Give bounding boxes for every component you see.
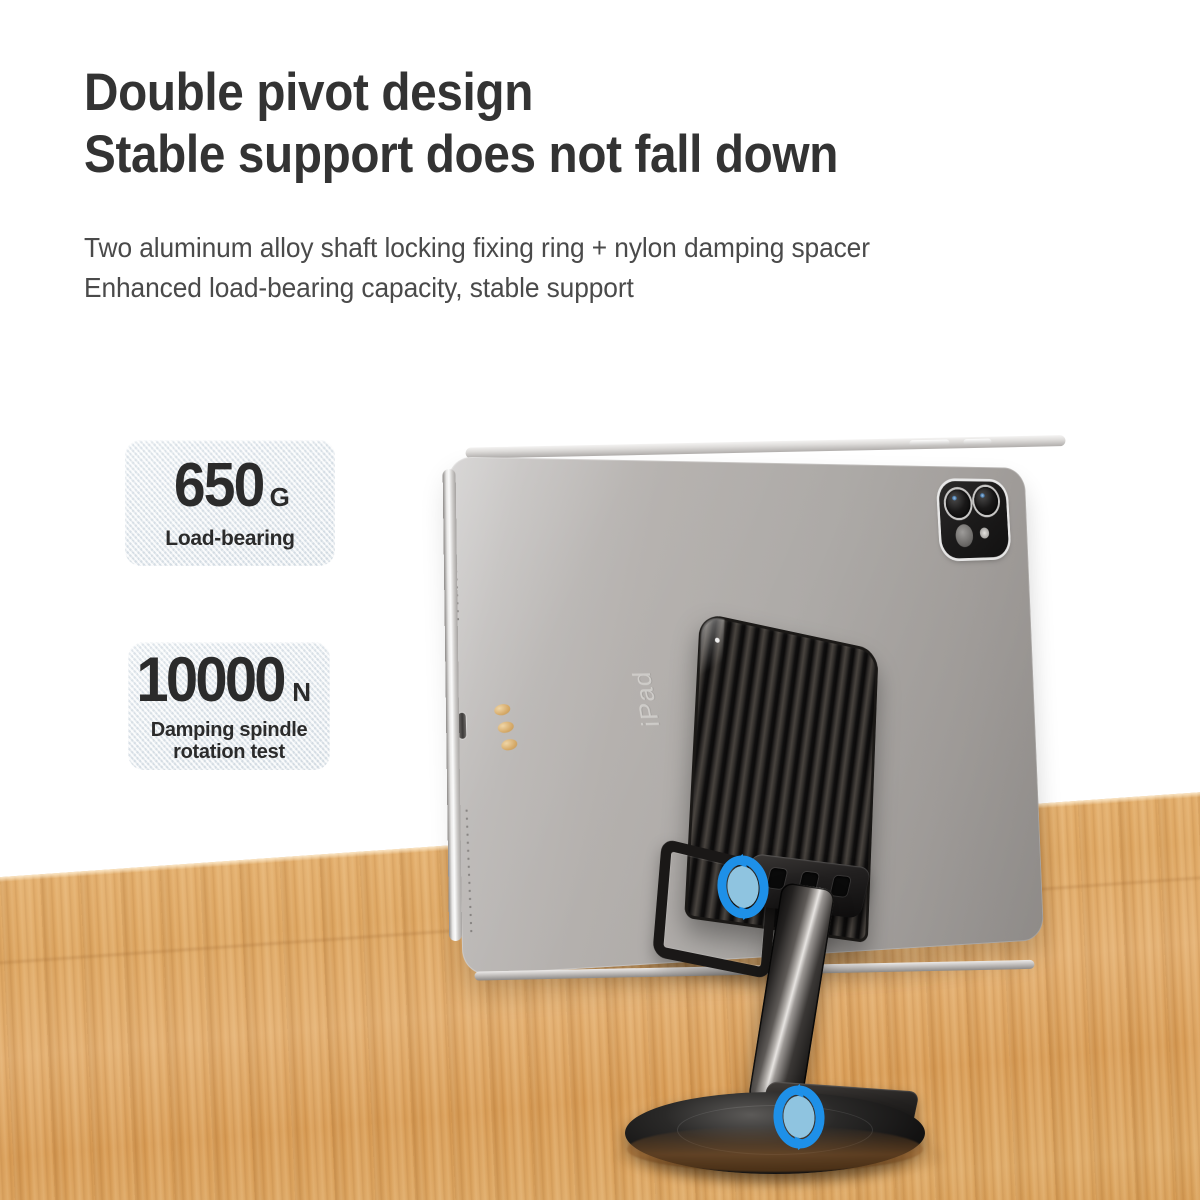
stand-plate-highlight-dot: [715, 637, 720, 643]
hinge-slot: [830, 875, 850, 897]
rotation-arrow-icon: [709, 849, 778, 925]
rotation-arrow-icon: [766, 1080, 833, 1154]
tablet-stand: [0, 0, 1200, 1200]
product-feature-banner: Double pivot design Stable support does …: [0, 0, 1200, 1200]
stand-plate-gloss: [698, 614, 724, 689]
